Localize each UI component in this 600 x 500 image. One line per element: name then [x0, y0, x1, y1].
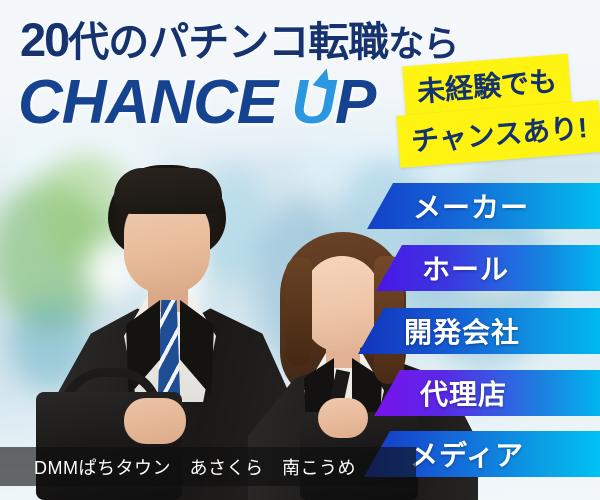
- logo-letter-p: P: [335, 68, 375, 137]
- banner-ad[interactable]: 20代のパチンコ転職なら CHANCEUP 未経験でも チャンスあり! メーカー…: [0, 0, 600, 500]
- logo-word-chance: CHANCE: [18, 68, 277, 137]
- brand-logo: CHANCEUP: [18, 72, 375, 134]
- credit-bar: DMMぱちタウン あさくら 南こうめ: [0, 447, 416, 486]
- category-button-hall[interactable]: ホール: [376, 245, 600, 291]
- category-button-agency[interactable]: 代理店: [374, 370, 600, 416]
- page-title: 20代のパチンコ転職なら: [20, 16, 458, 63]
- female-sidelock-left: [286, 258, 312, 366]
- category-button-developer[interactable]: 開発会社: [358, 308, 600, 354]
- male-hand: [124, 398, 186, 444]
- category-button-maker[interactable]: メーカー: [367, 183, 600, 229]
- logo-u-group: U: [291, 72, 335, 134]
- female-hand: [318, 398, 368, 438]
- headline-number: 20: [20, 13, 68, 66]
- headline-suffix: なら: [388, 23, 458, 64]
- male-fringe: [114, 168, 222, 214]
- headline-body: 代のパチンコ転職: [68, 19, 388, 65]
